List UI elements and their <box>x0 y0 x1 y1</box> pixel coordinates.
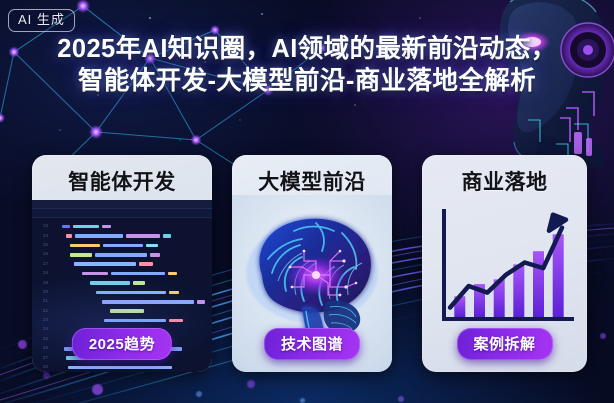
title-line-2: 智能体开发-大模型前沿-商业落地全解析 <box>14 65 600 97</box>
bokeh-dot <box>196 391 202 397</box>
title-line-1: 2025年AI知识圈，AI领域的最新前沿动态， <box>57 35 556 63</box>
card-business-landing[interactable]: 商业落地 案例拆解 <box>422 155 587 372</box>
bokeh-dot <box>92 384 103 395</box>
chart-trendline <box>450 228 562 308</box>
bokeh-dot <box>398 396 404 402</box>
card-badge-llm[interactable]: 技术图谱 <box>264 328 360 360</box>
bokeh-dot <box>300 398 305 403</box>
ai-generated-badge: AI 生成 <box>8 9 75 32</box>
card-title: 智能体开发 <box>32 155 212 196</box>
card-llm-frontier[interactable]: 大模型前沿 <box>232 155 392 372</box>
bokeh-dot <box>43 372 50 379</box>
card-agent-development[interactable]: 智能体开发 13 14 15 16 <box>32 155 212 372</box>
editor-menubar <box>32 209 212 218</box>
bokeh-dot <box>247 380 255 388</box>
card-badge-biz[interactable]: 案例拆解 <box>456 328 552 360</box>
chart-bar <box>533 251 544 317</box>
page-title: 2025年AI知识圈，AI领域的最新前沿动态， 智能体开发-大模型前沿-商业落地… <box>0 33 614 97</box>
card-badge-agent[interactable]: 2025趋势 <box>72 328 172 360</box>
bokeh-dot <box>600 333 606 339</box>
card-title: 大模型前沿 <box>232 155 392 196</box>
card-title: 商业落地 <box>422 155 587 196</box>
chart-bar <box>513 264 524 317</box>
editor-titlebar <box>32 200 212 209</box>
poster-canvas: AI 生成 2025年AI知识圈，AI领域的最新前沿动态， 智能体开发-大模型前… <box>0 0 614 403</box>
bokeh-dot <box>18 340 27 349</box>
